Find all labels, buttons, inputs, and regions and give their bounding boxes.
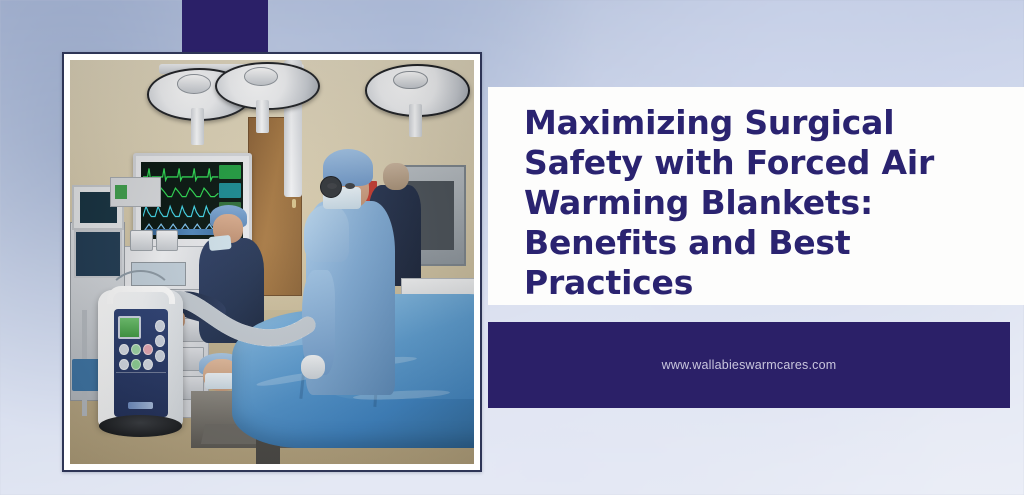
- unit-control-button: [143, 344, 153, 356]
- surgical-mask-icon: [208, 235, 231, 251]
- banner-stage: Maximizing Surgical Safety with Forced A…: [0, 0, 1024, 495]
- vaporizer-canister: [156, 230, 178, 251]
- headline-panel: Maximizing Surgical Safety with Forced A…: [488, 87, 1024, 305]
- unit-control-button: [119, 344, 129, 356]
- background-staff-head: [383, 163, 409, 190]
- vaporizer-canister: [130, 230, 152, 251]
- patient-oxygen-mask-icon: [205, 373, 233, 389]
- forced-air-warming-unit: [98, 290, 183, 427]
- unit-panel-divider: [116, 372, 166, 374]
- scrub-nurse-shoulder: [304, 205, 348, 262]
- footer-band: www.wallabieswarmcares.com: [488, 322, 1010, 408]
- wall-gas-outlet: [110, 177, 160, 207]
- unit-control-button: [131, 359, 141, 371]
- unit-indicator-light: [155, 335, 165, 347]
- unit-control-button: [143, 359, 153, 371]
- operating-room-photo: [70, 60, 474, 464]
- unit-brand-plate: [128, 402, 153, 409]
- corrugated-air-hose: [167, 294, 312, 359]
- readout-heart-rate: [219, 165, 241, 179]
- unit-indicator-light: [155, 320, 165, 332]
- readout-spo2: [219, 183, 241, 197]
- light-hub: [393, 71, 427, 90]
- auxiliary-display: [74, 230, 122, 278]
- featured-photo-frame: [62, 52, 482, 472]
- unit-control-button: [131, 344, 141, 356]
- unit-lcd-display: [118, 316, 142, 339]
- light-hub: [177, 74, 211, 94]
- website-url: www.wallabieswarmcares.com: [488, 358, 1010, 372]
- unit-indicator-light: [155, 350, 165, 362]
- unit-carry-handle: [107, 286, 175, 304]
- light-stem: [256, 100, 269, 132]
- unit-control-button: [119, 359, 129, 371]
- unit-control-panel: [114, 309, 168, 416]
- page-title: Maximizing Surgical Safety with Forced A…: [524, 103, 1008, 303]
- light-stem: [409, 104, 422, 136]
- top-accent-block: [182, 0, 268, 52]
- light-stem: [191, 108, 204, 144]
